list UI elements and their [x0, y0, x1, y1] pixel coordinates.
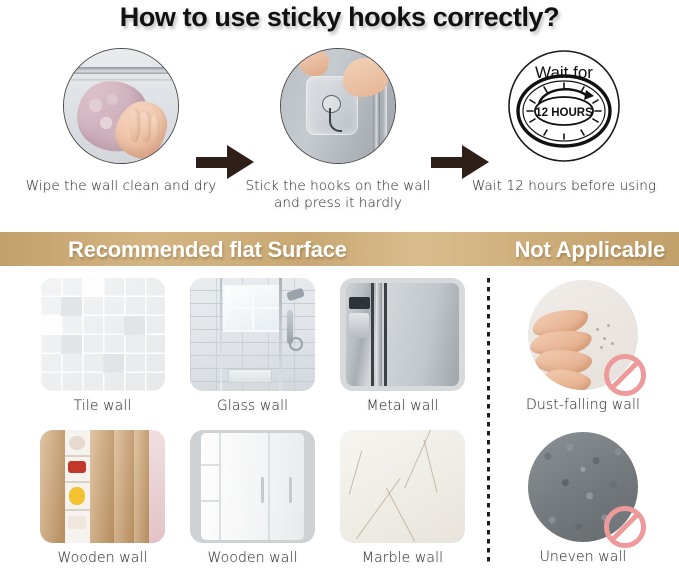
wooden-wardrobe-thumbnail: [40, 430, 165, 543]
sticky-hooks-instruction-graphic: How to use sticky hooks correctly? Wipe …: [0, 0, 679, 581]
uneven-wall-caption: Uneven wall: [510, 549, 656, 565]
wooden-wall-caption-2: Wooden wall: [180, 550, 325, 566]
hand-wiping-wall-photo: [63, 48, 179, 164]
arrow-1-icon: [196, 145, 260, 179]
clock-top-label: Wait for: [535, 63, 593, 82]
steps-row: Wipe the wall clean and dry Stick the ho…: [0, 48, 679, 218]
prohibition-sign-icon-2: [604, 506, 646, 548]
stainless-refrigerator-thumbnail: [340, 278, 465, 391]
step-3-caption: Wait 12 hours before using: [461, 178, 667, 195]
clock-center-label: 12 HOURS: [535, 107, 593, 119]
clock-illustration: 12 HOURS Wait for: [506, 48, 622, 164]
glass-wall-caption: Glass wall: [180, 398, 325, 414]
page-title: How to use sticky hooks correctly?: [0, 2, 679, 33]
step-1-caption: Wipe the wall clean and dry: [15, 178, 227, 195]
prohibition-sign-icon-1: [604, 354, 646, 396]
marble-wall-caption: Marble wall: [330, 550, 475, 566]
banner-right-label: Not Applicable: [515, 237, 665, 263]
tile-wall-caption: Tile wall: [30, 398, 175, 414]
column-divider: [487, 278, 490, 566]
white-wardrobe-thumbnail: [190, 430, 315, 543]
wooden-wall-caption-1: Wooden wall: [30, 550, 175, 566]
marble-wall-thumbnail: [340, 430, 465, 543]
sticky-hook-on-wall-photo: [280, 48, 396, 164]
clock-svg: 12 HOURS Wait for: [506, 48, 622, 164]
banner-left-label: Recommended flat Surface: [68, 237, 347, 263]
step-2-caption: Stick the hooks on the wall and press it…: [238, 178, 438, 212]
dust-falling-wall-caption: Dust-falling wall: [510, 397, 656, 413]
metal-wall-caption: Metal wall: [330, 398, 475, 414]
arrow-2-icon: [431, 145, 495, 179]
section-banner: Recommended flat Surface Not Applicable: [0, 232, 679, 266]
tile-wall-thumbnail: [40, 278, 165, 391]
glass-shower-wall-thumbnail: [190, 278, 315, 391]
